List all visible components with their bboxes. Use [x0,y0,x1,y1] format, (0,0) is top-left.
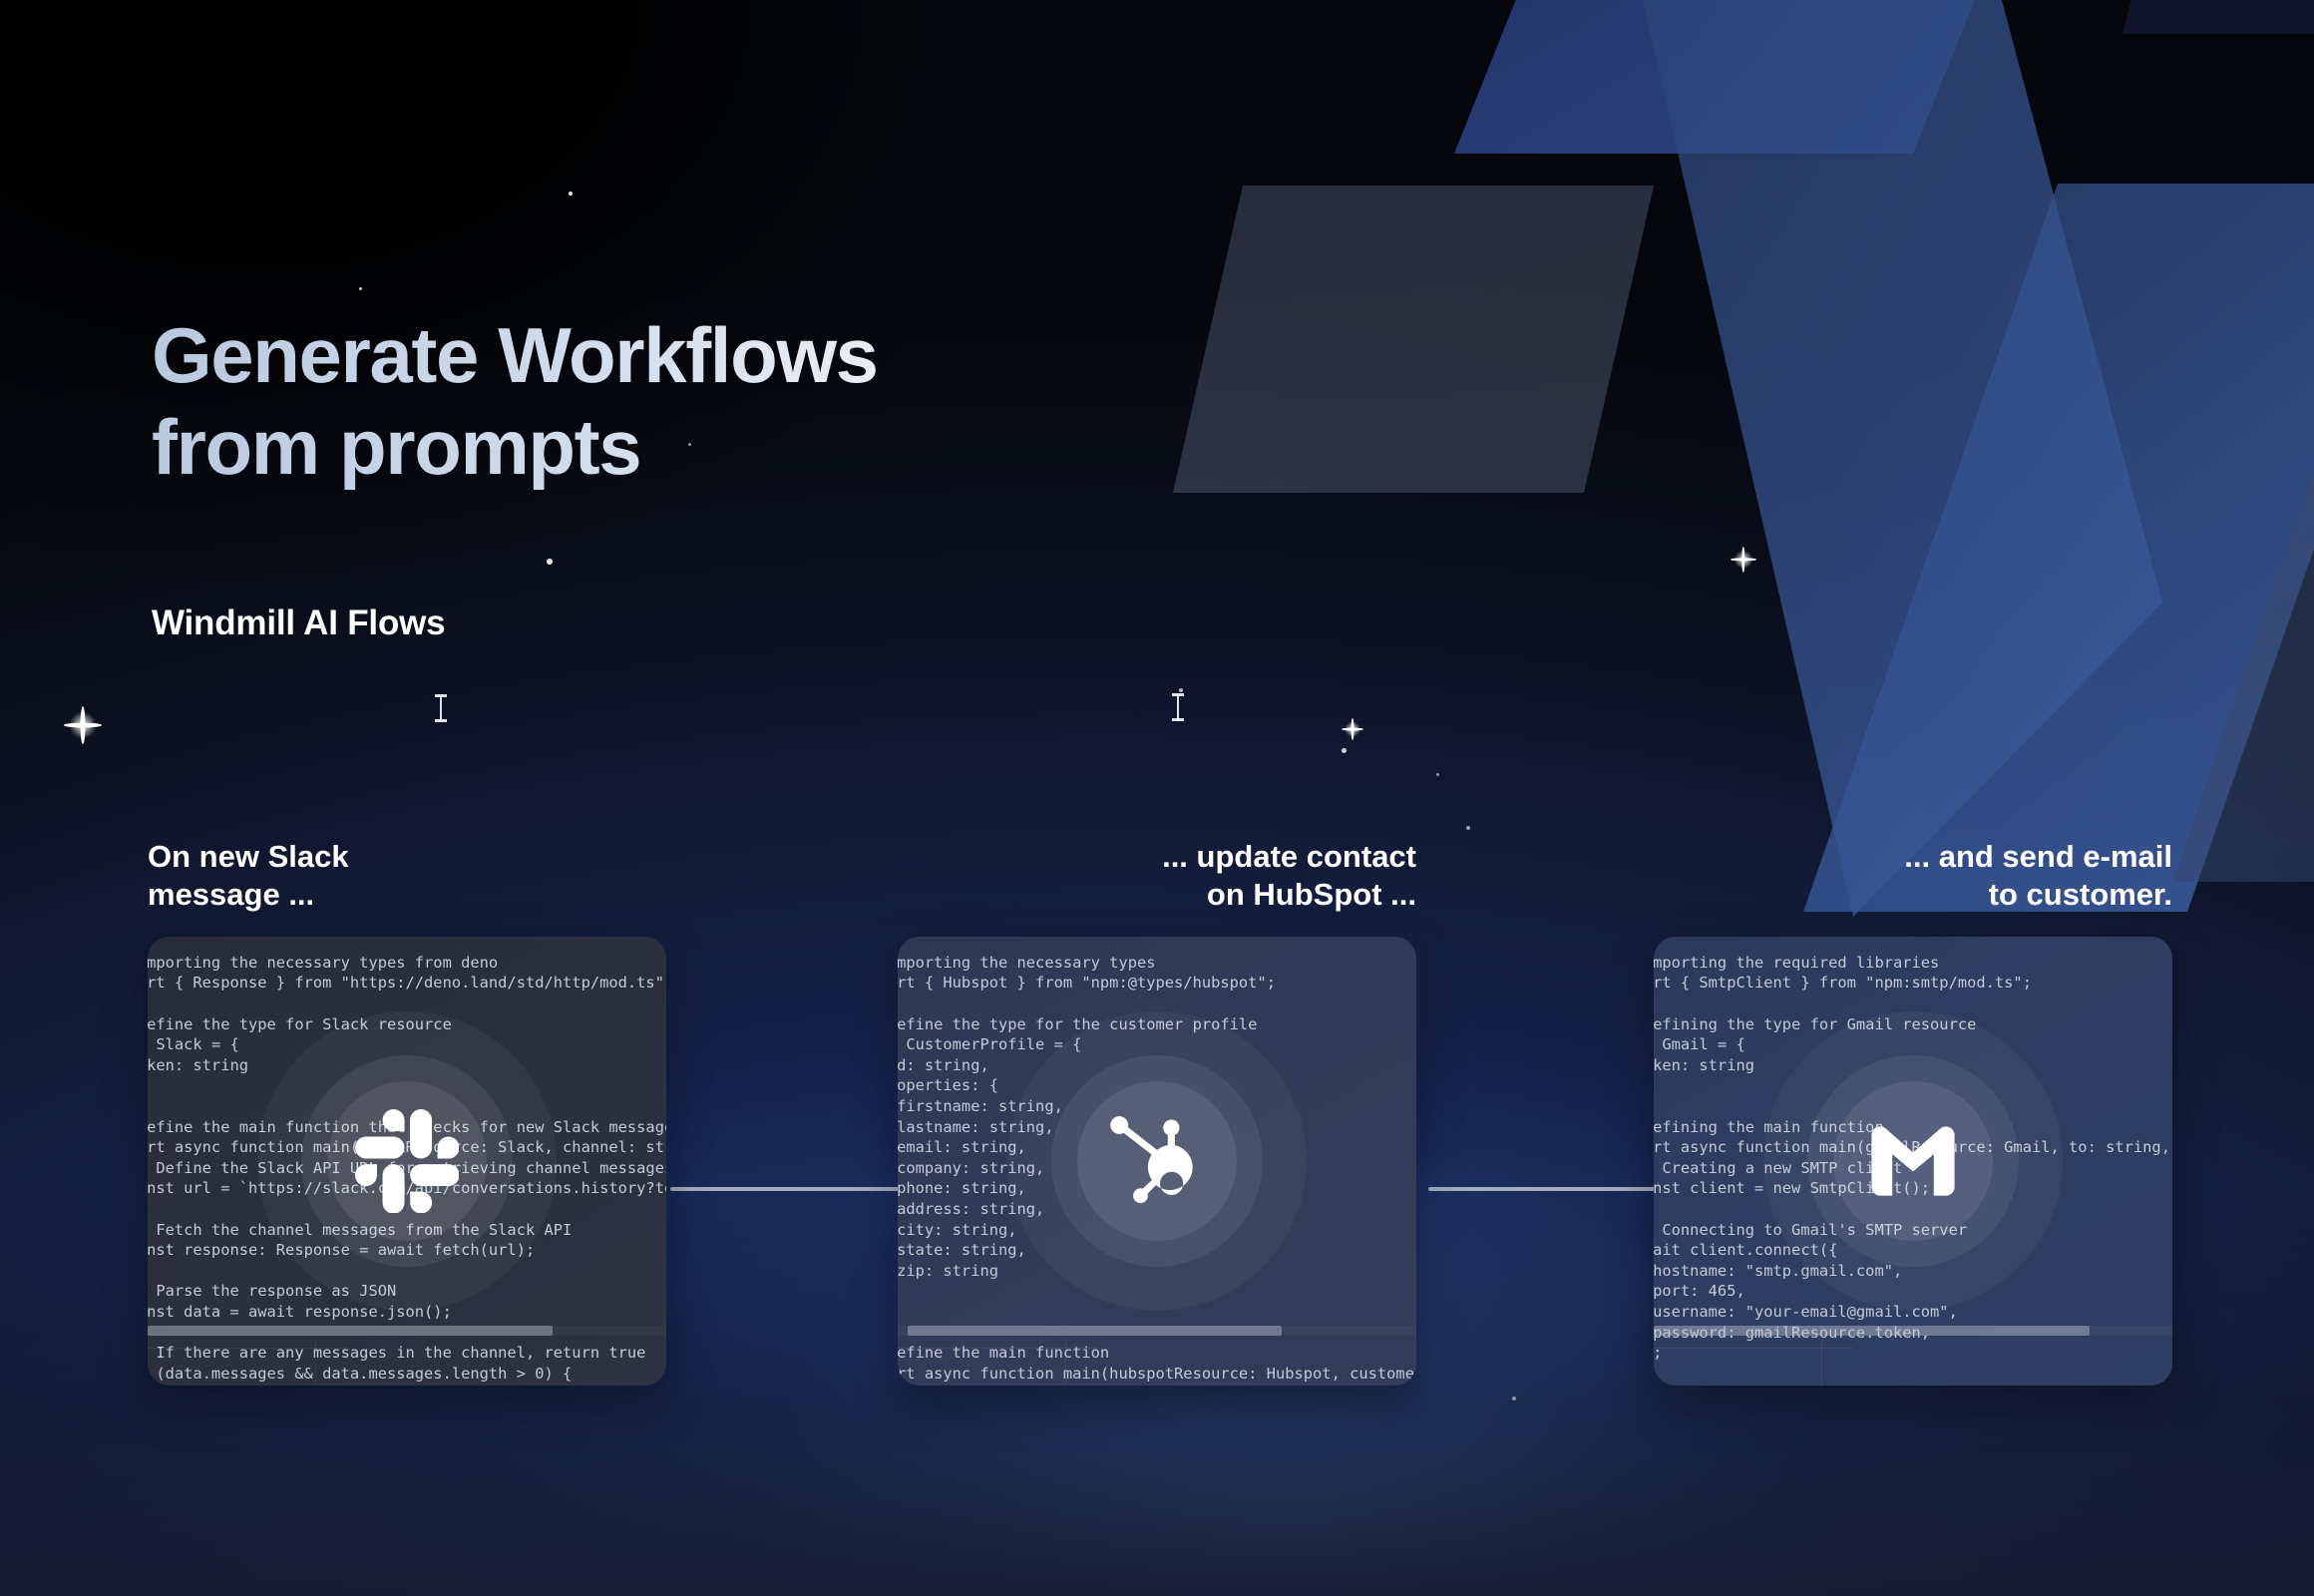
flow-node-hubspot[interactable]: ... update contact on HubSpot ... // Imp… [898,838,1416,1386]
flow-node-slack[interactable]: On new Slack message ... // Importing th… [148,838,666,1386]
flow-node-card[interactable]: // Importing the required libraries impo… [1654,937,2172,1386]
flow-node-label: On new Slack message ... [148,838,666,915]
scrollbar-thumb[interactable] [908,1326,1281,1336]
horizontal-scrollbar[interactable] [898,1326,1416,1336]
flow-connector-2 [1428,1187,1678,1191]
slack-icon [257,1011,557,1311]
flow-node-card[interactable]: // Importing the necessary types from de… [148,937,666,1386]
card-footer [898,1340,1416,1386]
flow-node-gmail[interactable]: ... and send e-mail to customer. // Impo… [1654,838,2172,1386]
flow-node-label: ... and send e-mail to customer. [1654,838,2172,915]
horizontal-scrollbar[interactable] [148,1326,666,1336]
hubspot-icon [1007,1011,1307,1311]
card-footer [148,1340,666,1386]
flow-canvas: On new Slack message ... // Importing th… [0,0,2314,1596]
scrollbar-thumb[interactable] [148,1326,553,1336]
flow-node-card[interactable]: // Importing the necessary types import … [898,937,1416,1386]
gmail-icon [1763,1011,2063,1311]
text-cursor-icon [435,694,447,722]
flow-connector-1 [670,1187,920,1191]
horizontal-scrollbar[interactable] [1654,1326,2172,1336]
flow-node-label: ... update contact on HubSpot ... [898,838,1416,915]
card-footer [1654,1340,2172,1386]
text-cursor-icon [1172,693,1184,721]
scrollbar-thumb[interactable] [1654,1326,2090,1336]
